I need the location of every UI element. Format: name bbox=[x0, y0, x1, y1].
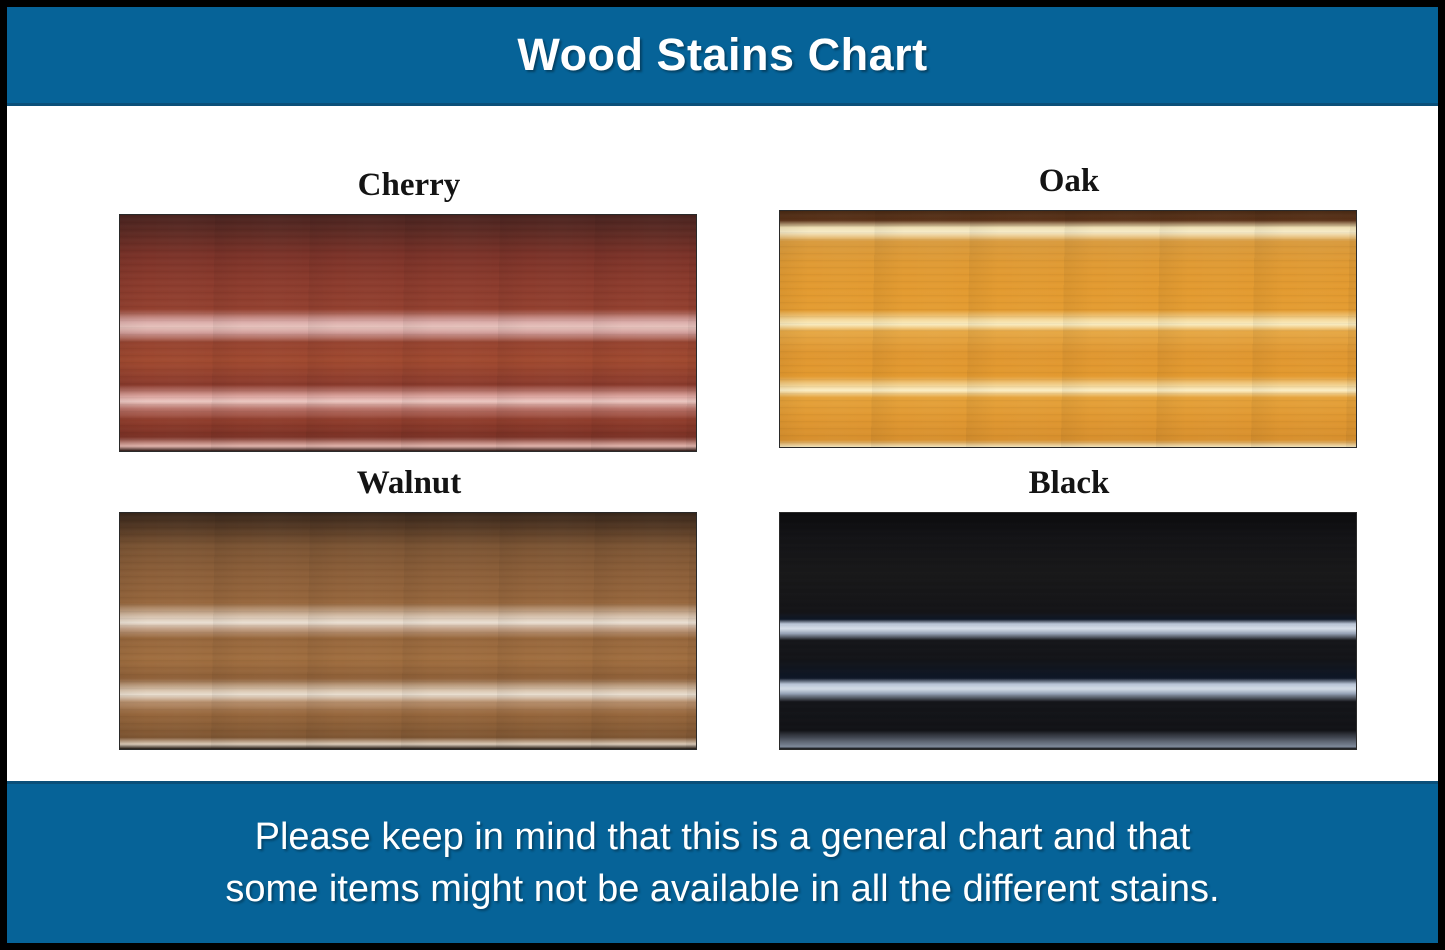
swatch-grid: Cherry Oak Walnut Black bbox=[7, 109, 1438, 781]
oak-wood-swatch[interactable] bbox=[779, 210, 1357, 448]
walnut-wood-swatch[interactable] bbox=[119, 512, 697, 750]
header-banner: Wood Stains Chart bbox=[7, 7, 1438, 106]
swatch-cell-oak[interactable]: Oak bbox=[779, 165, 1359, 448]
swatch-label-walnut: Walnut bbox=[119, 467, 699, 500]
cherry-wood-swatch[interactable] bbox=[119, 214, 697, 452]
cherry-wood-texture bbox=[120, 215, 696, 451]
black-wood-swatch[interactable] bbox=[779, 512, 1357, 750]
footer-note-line-1: Please keep in mind that this is a gener… bbox=[255, 812, 1191, 863]
swatch-cell-cherry[interactable]: Cherry bbox=[119, 169, 699, 452]
page-title: Wood Stains Chart bbox=[517, 29, 927, 81]
swatch-cell-black[interactable]: Black bbox=[779, 467, 1359, 750]
footer-banner: Please keep in mind that this is a gener… bbox=[7, 781, 1438, 943]
swatch-cell-walnut[interactable]: Walnut bbox=[119, 467, 699, 750]
walnut-wood-texture bbox=[120, 513, 696, 749]
oak-wood-texture bbox=[780, 211, 1356, 447]
swatch-label-oak: Oak bbox=[779, 165, 1359, 198]
footer-note-line-2: some items might not be available in all… bbox=[225, 864, 1219, 915]
wood-stains-chart-frame: Wood Stains Chart Cherry Oak Walnut bbox=[0, 0, 1445, 950]
black-wood-texture bbox=[780, 513, 1356, 749]
swatch-label-cherry: Cherry bbox=[119, 169, 699, 202]
swatch-label-black: Black bbox=[779, 467, 1359, 500]
